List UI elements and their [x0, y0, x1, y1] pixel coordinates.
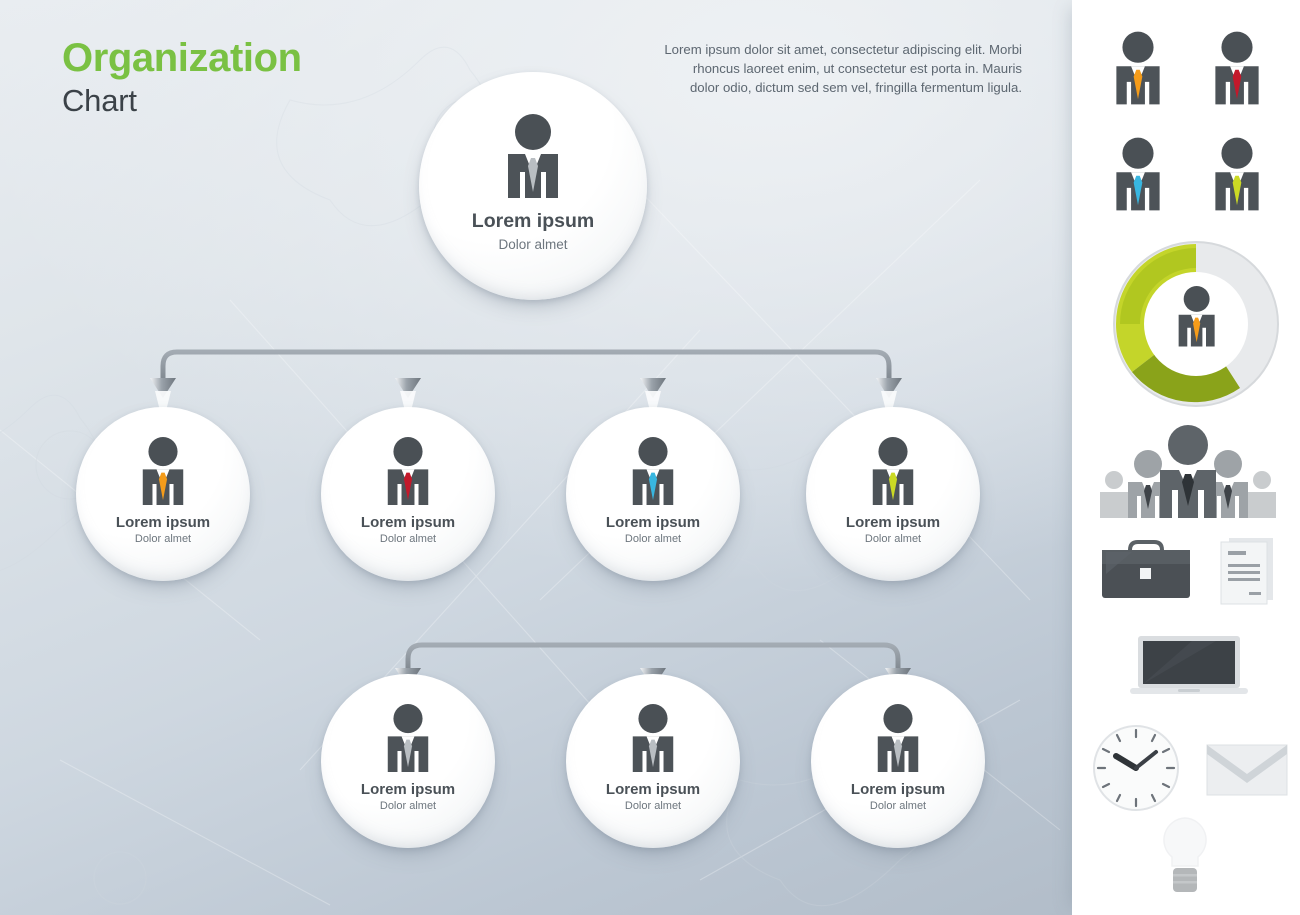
- node-role: Dolor almet: [498, 237, 567, 252]
- person-icon: [623, 704, 683, 772]
- node-name: Lorem ipsum: [851, 781, 945, 798]
- node-name: Lorem ipsum: [846, 514, 940, 531]
- briefcase-icon[interactable]: [1098, 534, 1194, 606]
- envelope-icon[interactable]: [1206, 744, 1288, 796]
- node-role: Dolor almet: [380, 533, 436, 545]
- node-name: Lorem ipsum: [361, 781, 455, 798]
- org-node-team-2[interactable]: Lorem ipsum Dolor almet: [566, 674, 740, 848]
- person-icon: [378, 704, 438, 772]
- node-name: Lorem ipsum: [116, 514, 210, 531]
- org-node-team-3[interactable]: Lorem ipsum Dolor almet: [811, 674, 985, 848]
- org-node-dept-1[interactable]: Lorem ipsum Dolor almet: [76, 407, 250, 581]
- person-icon: [133, 437, 193, 505]
- node-role: Dolor almet: [865, 533, 921, 545]
- person-icon: [623, 437, 683, 505]
- node-name: Lorem ipsum: [361, 514, 455, 531]
- lightbulb-icon[interactable]: [1152, 812, 1218, 900]
- clock-icon[interactable]: [1090, 722, 1182, 814]
- person-cyan-tie-icon[interactable]: [1106, 134, 1170, 214]
- org-node-root[interactable]: Lorem ipsum Dolor almet: [419, 72, 647, 300]
- person-icon: [496, 114, 570, 198]
- team-group-icon[interactable]: [1090, 420, 1286, 520]
- document-icon[interactable]: [1215, 534, 1283, 608]
- donut-chart-icon[interactable]: [1110, 238, 1282, 410]
- node-name: Lorem ipsum: [606, 514, 700, 531]
- node-role: Dolor almet: [135, 533, 191, 545]
- node-name: Lorem ipsum: [606, 781, 700, 798]
- person-icon: [378, 437, 438, 505]
- node-role: Dolor almet: [870, 800, 926, 812]
- node-name: Lorem ipsum: [472, 210, 594, 233]
- org-node-dept-2[interactable]: Lorem ipsum Dolor almet: [321, 407, 495, 581]
- person-icon: [863, 437, 923, 505]
- icon-sidebar: OPTION OPTION OPTION OPTION: [1072, 0, 1300, 915]
- person-lime-tie-icon[interactable]: [1205, 134, 1269, 214]
- org-node-dept-3[interactable]: Lorem ipsum Dolor almet: [566, 407, 740, 581]
- node-role: Dolor almet: [380, 800, 436, 812]
- person-icon: [868, 704, 928, 772]
- laptop-icon[interactable]: [1130, 632, 1248, 700]
- org-node-team-1[interactable]: Lorem ipsum Dolor almet: [321, 674, 495, 848]
- person-orange-tie-icon[interactable]: [1106, 28, 1170, 108]
- org-node-dept-4[interactable]: Lorem ipsum Dolor almet: [806, 407, 980, 581]
- organization-chart-infographic: Organization Chart Lorem ipsum dolor sit…: [0, 0, 1300, 915]
- person-red-tie-icon[interactable]: [1205, 28, 1269, 108]
- node-role: Dolor almet: [625, 533, 681, 545]
- node-role: Dolor almet: [625, 800, 681, 812]
